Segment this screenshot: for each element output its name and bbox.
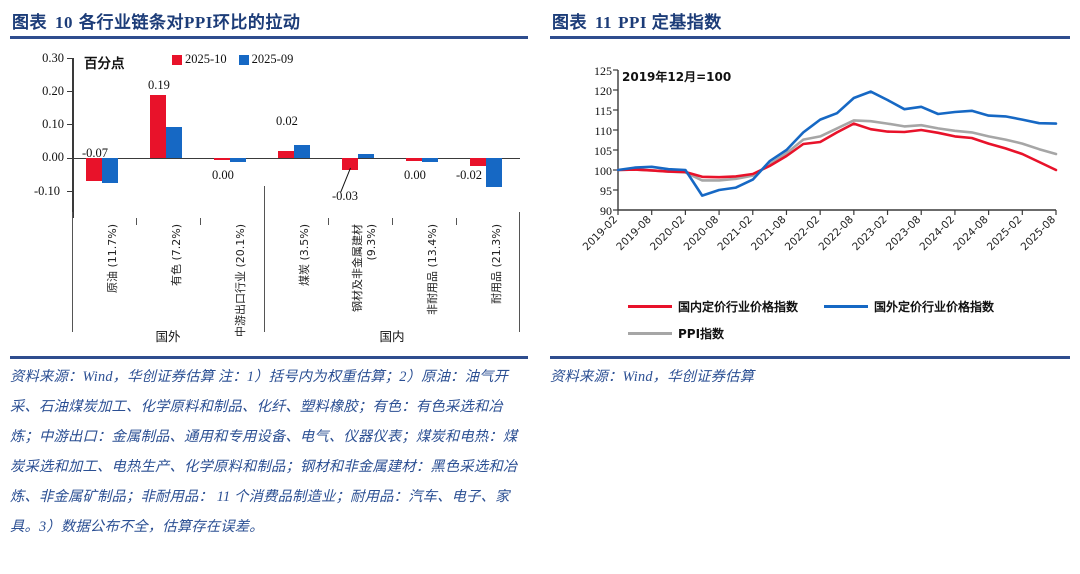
bar-group-label-foreign: 国外 bbox=[155, 326, 180, 345]
bar-zero-line bbox=[72, 158, 520, 159]
legend-item-foreign: 国外定价行业价格指数 bbox=[824, 298, 994, 315]
line-chart-legend: 国内定价行业价格指数 国外定价行业价格指数 PPI指数 bbox=[628, 298, 1058, 352]
legend-item-domestic: 国内定价行业价格指数 bbox=[628, 298, 798, 315]
line-xtick-label: 2025-02 bbox=[985, 214, 1025, 254]
line-xtick-label: 2022-08 bbox=[816, 214, 856, 254]
left-figure-panel: 图表10各行业链条对PPI环比的拉动 百分点 2025-10 2025-09 0… bbox=[0, 0, 540, 574]
cat-tick-1 bbox=[136, 218, 137, 225]
line-chart: 2019年12月=100 125 120 115 110 105 100 95 … bbox=[540, 40, 1080, 352]
legend-line-red bbox=[628, 305, 672, 308]
line-xtick-label: 2022-02 bbox=[783, 214, 823, 254]
line-series-group bbox=[618, 92, 1056, 196]
line-chart-svg: 2019-022019-082020-022020-082021-022021-… bbox=[540, 40, 1080, 290]
cat-tick-6 bbox=[456, 218, 457, 225]
bar-category-label-0: 原油 (11.7%) bbox=[104, 224, 120, 293]
legend-label-foreign: 国外定价行业价格指数 bbox=[874, 298, 994, 315]
bar-category-label-3: 煤炭 (3.5%) bbox=[296, 224, 312, 286]
right-title-rule bbox=[550, 36, 1070, 39]
line-xtick-label: 2020-08 bbox=[682, 214, 722, 254]
cat-tick-2 bbox=[200, 218, 201, 225]
left-title-number: 10 bbox=[55, 13, 73, 32]
bar-category-label-1: 有色 (7.2%) bbox=[168, 224, 184, 286]
group-sep-left bbox=[72, 212, 73, 332]
bar-ytick-2: 0.10 bbox=[26, 117, 64, 132]
bar-ytick-3: 0.00 bbox=[26, 150, 64, 165]
bar-value-label-3: 0.02 bbox=[276, 114, 298, 129]
bar-blue-2 bbox=[230, 158, 246, 162]
bar-plot-area: -0.07 0.19 0.00 0.02 bbox=[72, 58, 520, 218]
left-title-rule bbox=[10, 36, 528, 39]
line-xtick-label: 2024-02 bbox=[918, 214, 958, 254]
bar-category-label-4-line2: (9.3%) bbox=[365, 224, 378, 261]
bar-value-label-5: 0.00 bbox=[404, 168, 426, 183]
bar-ytick-mark-1 bbox=[67, 91, 72, 92]
bar-ytick-mark-4 bbox=[67, 191, 72, 192]
line-xtick-label: 2020-02 bbox=[648, 214, 688, 254]
bar-y-axis bbox=[72, 58, 74, 218]
bar-blue-5 bbox=[422, 158, 438, 162]
line-xtick-marks bbox=[618, 210, 1056, 215]
figure-page: 图表10各行业链条对PPI环比的拉动 百分点 2025-10 2025-09 0… bbox=[0, 0, 1080, 574]
bar-red-3 bbox=[278, 151, 294, 158]
bar-red-5 bbox=[406, 158, 422, 161]
legend-line-blue bbox=[824, 305, 868, 308]
bar-red-0 bbox=[86, 158, 102, 181]
bar-value-label-6: -0.02 bbox=[456, 168, 482, 183]
right-title-text: PPI 定基指数 bbox=[618, 13, 722, 32]
bar-ytick-4: -0.10 bbox=[22, 184, 60, 199]
left-source-rule bbox=[10, 356, 528, 359]
line-xtick-label: 2023-08 bbox=[884, 214, 924, 254]
line-ytick-marks bbox=[613, 70, 618, 210]
legend-row-1: 国内定价行业价格指数 国外定价行业价格指数 bbox=[628, 298, 1058, 315]
line-xtick-label: 2024-08 bbox=[951, 214, 991, 254]
bar-red-6 bbox=[470, 158, 486, 166]
bar-ytick-0: 0.30 bbox=[26, 51, 64, 66]
bar-group-label-domestic: 国内 bbox=[379, 326, 404, 345]
bar-ytick-mark-0 bbox=[67, 58, 72, 59]
legend-label-domestic: 国内定价行业价格指数 bbox=[678, 298, 798, 315]
bar-blue-1 bbox=[166, 127, 182, 158]
right-figure-panel: 图表11PPI 定基指数 2019年12月=100 125 120 115 11… bbox=[540, 0, 1080, 574]
right-figure-title: 图表11PPI 定基指数 bbox=[552, 8, 722, 33]
left-source-note: 资料来源：Wind，华创证券估算 注：1）括号内为权重估算；2）原油：油气开采、… bbox=[10, 362, 530, 542]
legend-row-2: PPI指数 bbox=[628, 325, 1058, 342]
bar-category-label-5: 非耐用品 (13.4%) bbox=[424, 224, 440, 315]
line-xtick-label: 2023-02 bbox=[850, 214, 890, 254]
left-figure-title: 图表10各行业链条对PPI环比的拉动 bbox=[12, 8, 300, 33]
bar-value-label-2: 0.00 bbox=[212, 168, 234, 183]
line-xtick-label: 2025-08 bbox=[1019, 214, 1059, 254]
bar-ytick-1: 0.20 bbox=[26, 84, 64, 99]
cat-tick-5 bbox=[392, 218, 393, 225]
bar-value-label-0: -0.07 bbox=[82, 146, 108, 161]
bar-value-label-1: 0.19 bbox=[148, 78, 170, 93]
right-source-rule bbox=[550, 356, 1070, 359]
bar-category-label-4b: (9.3%) bbox=[366, 224, 378, 261]
line-xtick-label: 2021-08 bbox=[749, 214, 789, 254]
bar-ytick-mark-2 bbox=[67, 124, 72, 125]
left-title-text: 各行业链条对PPI环比的拉动 bbox=[79, 13, 300, 32]
bar-red-2 bbox=[214, 158, 230, 160]
legend-line-gray bbox=[628, 332, 672, 335]
group-sep-right bbox=[519, 212, 520, 332]
legend-item-ppi: PPI指数 bbox=[628, 325, 724, 342]
line-xtick-label: 2019-08 bbox=[614, 214, 654, 254]
bar-category-label-4-line1: 钢材及非金属建材 bbox=[351, 224, 364, 312]
line-xtick-label: 2021-02 bbox=[715, 214, 755, 254]
left-title-prefix: 图表 bbox=[12, 13, 47, 32]
line-xtick-labels: 2019-022019-082020-022020-082021-022021-… bbox=[581, 214, 1059, 254]
right-title-prefix: 图表 bbox=[552, 13, 587, 32]
bar-value-label-4: -0.03 bbox=[332, 189, 358, 204]
bar-blue-4 bbox=[358, 154, 374, 158]
group-sep-mid bbox=[264, 186, 265, 332]
bar-red-1 bbox=[150, 95, 166, 158]
line-xtick-label: 2019-02 bbox=[581, 214, 621, 254]
legend-label-ppi: PPI指数 bbox=[678, 325, 724, 342]
bar-category-label-2: 中游出口行业 (20.1%) bbox=[232, 224, 248, 337]
bar-chart: 百分点 2025-10 2025-09 0.30 0.20 0.10 0.00 … bbox=[0, 40, 540, 352]
bar-blue-6 bbox=[486, 158, 502, 187]
bar-group-brackets: 国外 国内 bbox=[72, 330, 520, 354]
bar-blue-3 bbox=[294, 145, 310, 158]
cat-tick-4 bbox=[328, 218, 329, 225]
right-title-number: 11 bbox=[595, 13, 612, 32]
bar-category-label-4: 钢材及非金属建材 bbox=[352, 224, 364, 312]
bar-blue-0 bbox=[102, 158, 118, 183]
bar-category-label-6: 耐用品 (21.3%) bbox=[488, 224, 504, 304]
right-source-note: 资料来源：Wind，华创证券估算 bbox=[550, 362, 1070, 392]
